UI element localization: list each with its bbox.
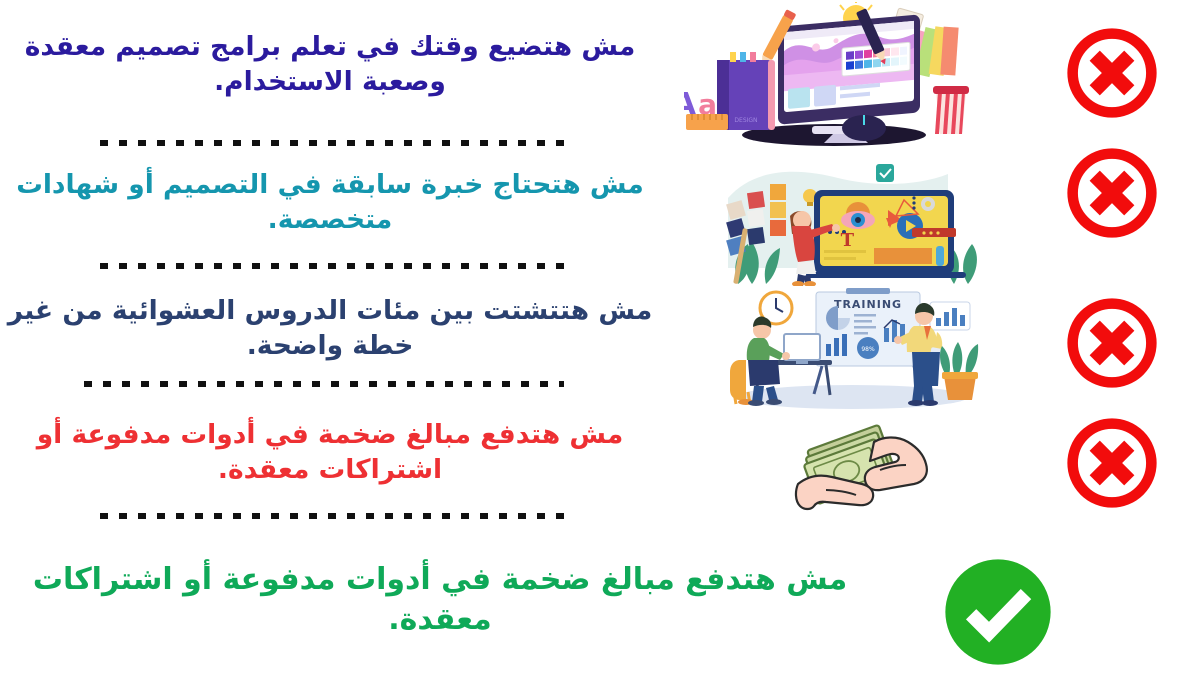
- svg-text:T: T: [841, 230, 855, 251]
- statements-column: مش هتضيع وقتك في تعلم برامج تصميم معقدة …: [0, 0, 680, 675]
- statement-text-4: مش هتدفع مبالغ ضخمة في أدوات مدفوعة أو ا…: [0, 418, 660, 488]
- training-session-illustration: TRAINING 98%: [718, 282, 986, 410]
- graphic-design-workstation-illustration: COLOR PALETTE: [684, 2, 984, 148]
- red-x-circle-icon-4: [1064, 415, 1160, 511]
- statement-text-5: مش هتدفع مبالغ ضخمة في أدوات مدفوعة أو ا…: [0, 560, 880, 639]
- hands-exchanging-money-illustration: [788, 418, 950, 514]
- statement-text-2: مش هتحتاج خبرة سابقة في التصميم أو شهادا…: [0, 168, 660, 238]
- dotted-divider-3: [84, 381, 564, 387]
- red-x-circle-icon-2: [1064, 145, 1160, 241]
- dotted-divider-2: [100, 263, 566, 269]
- svg-text:DESIGN: DESIGN: [734, 117, 757, 124]
- dotted-divider-4: [100, 513, 566, 519]
- green-check-circle-icon: [942, 556, 1054, 668]
- infographic-canvas: مش هتضيع وقتك في تعلم برامج تصميم معقدة …: [0, 0, 1200, 675]
- designer-with-laptop-illustration: T: [718, 158, 986, 286]
- statement-text-3: مش هتتشتت بين مئات الدروس العشوائية من غ…: [0, 294, 660, 364]
- red-x-circle-icon-3: [1064, 295, 1160, 391]
- svg-text:TRAINING: TRAINING: [834, 298, 902, 311]
- dotted-divider-1: [100, 140, 566, 146]
- statement-text-1: مش هتضيع وقتك في تعلم برامج تصميم معقدة …: [0, 30, 660, 100]
- svg-text:98%: 98%: [861, 346, 875, 353]
- red-x-circle-icon-1: [1064, 25, 1160, 121]
